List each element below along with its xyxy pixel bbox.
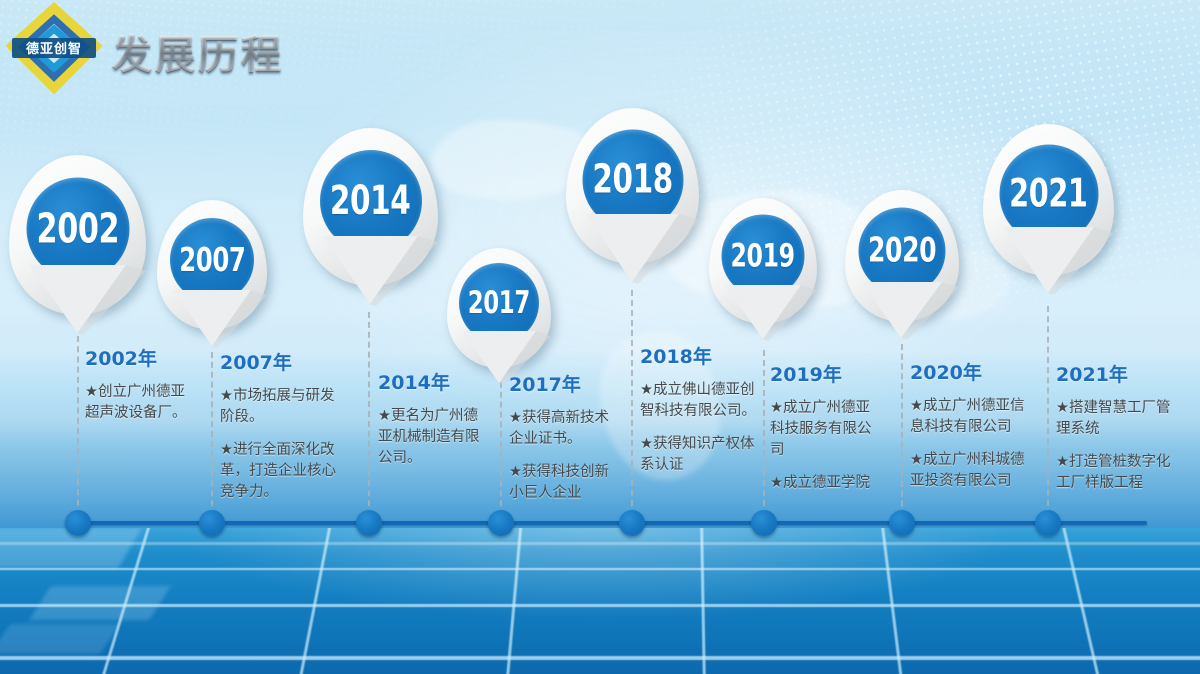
pin-2019-year: 2019	[731, 237, 795, 275]
milestone-year-label-2020: 2020年	[910, 362, 1034, 384]
milestone-item: ★更名为广州德亚机械制造有限公司。	[378, 406, 490, 469]
pin-2021[interactable]: 2021	[983, 124, 1114, 276]
connector-dash-2020	[901, 344, 903, 526]
pin-2017[interactable]: 2017	[447, 248, 551, 368]
pin-2002-tip	[9, 265, 146, 335]
milestone-text-2002: 2002年 ★创立广州德亚超声波设备厂。	[85, 348, 195, 424]
milestone-item: ★成立广州德亚科技服务有限公司	[770, 398, 882, 461]
milestone-item: ★获得科技创新小巨人企业	[509, 462, 621, 504]
connector-dash-2017	[500, 372, 502, 526]
pin-2019[interactable]: 2019	[709, 198, 817, 324]
pin-2014-tip	[303, 236, 438, 306]
timeline-dot-2018[interactable]	[619, 510, 645, 536]
milestone-item: ★获得知识产权体系认证	[640, 434, 756, 476]
milestone-item: ★打造管桩数字化工厂样版工程	[1056, 452, 1180, 494]
milestone-item: ★成立德亚学院	[770, 473, 882, 494]
milestone-item: ★成立广州德亚信息科技有限公司	[910, 396, 1034, 438]
pin-2018[interactable]: 2018	[566, 108, 699, 264]
milestone-year-label-2021: 2021年	[1056, 364, 1180, 386]
timeline-axis	[72, 521, 1147, 525]
milestone-text-2019: 2019年 ★成立广州德亚科技服务有限公司 ★成立德亚学院	[770, 364, 882, 494]
connector-dash-2007	[211, 352, 213, 526]
milestone-text-2018: 2018年 ★成立佛山德亚创智科技有限公司。 ★获得知识产权体系认证	[640, 346, 756, 476]
milestone-item: ★创立广州德亚超声波设备厂。	[85, 382, 195, 424]
milestone-year-label-2018: 2018年	[640, 346, 756, 368]
timeline-dot-2014[interactable]	[356, 510, 382, 536]
timeline-dot-2019[interactable]	[751, 510, 777, 536]
pin-2020-tip	[845, 282, 959, 340]
logo-text: 德亚创智	[26, 41, 82, 57]
milestone-year-label-2017: 2017年	[509, 374, 621, 396]
pin-2007-tip	[157, 290, 267, 348]
milestone-item: ★成立广州科城德亚投资有限公司	[910, 450, 1034, 492]
timeline-dot-2002[interactable]	[65, 510, 91, 536]
milestone-text-2021: 2021年 ★搭建智慧工厂管理系统 ★打造管桩数字化工厂样版工程	[1056, 364, 1180, 494]
pin-2002-year: 2002	[36, 205, 119, 253]
pin-2014[interactable]: 2014	[303, 128, 438, 286]
company-logo[interactable]: 德亚创智	[6, 2, 102, 94]
timeline-infographic: 德亚创智 发展历程 2002 2007	[0, 0, 1200, 674]
milestone-item: ★成立佛山德亚创智科技有限公司。	[640, 380, 756, 422]
milestone-year-label-2014: 2014年	[378, 372, 490, 394]
milestone-year-label-2019: 2019年	[770, 364, 882, 386]
connector-dash-2002	[77, 336, 79, 526]
pin-2021-year: 2021	[1009, 171, 1087, 216]
connector-dash-2018	[631, 290, 633, 526]
pin-2007-year: 2007	[179, 240, 245, 279]
pin-2007[interactable]: 2007	[157, 200, 267, 330]
pin-2014-year: 2014	[330, 178, 410, 224]
milestone-text-2017: 2017年 ★获得高新技术企业证书。 ★获得科技创新小巨人企业	[509, 374, 621, 504]
pin-2002[interactable]: 2002	[9, 155, 146, 315]
milestone-item: ★搭建智慧工厂管理系统	[1056, 398, 1180, 440]
connector-dash-2019	[763, 350, 765, 526]
pin-2021-tip	[983, 227, 1114, 295]
timeline-dot-2020[interactable]	[889, 510, 915, 536]
milestone-item: ★获得高新技术企业证书。	[509, 408, 621, 450]
background-perspective-floor	[0, 528, 1200, 674]
timeline-dot-2017[interactable]	[488, 510, 514, 536]
pin-2020[interactable]: 2020	[845, 190, 959, 322]
connector-dash-2014	[368, 312, 370, 526]
milestone-text-2007: 2007年 ★市场拓展与研发阶段。 ★进行全面深化改革，打造企业核心竞争力。	[220, 352, 348, 503]
pin-2020-year: 2020	[868, 231, 936, 271]
timeline-dot-2021[interactable]	[1035, 510, 1061, 536]
pin-2019-tip	[709, 285, 817, 341]
pin-2018-tip	[566, 214, 699, 284]
pin-2017-year: 2017	[468, 285, 530, 321]
connector-dash-2021	[1047, 306, 1049, 526]
milestone-text-2020: 2020年 ★成立广州德亚信息科技有限公司 ★成立广州科城德亚投资有限公司	[910, 362, 1034, 492]
milestone-item: ★市场拓展与研发阶段。	[220, 386, 348, 428]
page-title: 发展历程	[112, 22, 284, 80]
milestone-text-2014: 2014年 ★更名为广州德亚机械制造有限公司。	[378, 372, 490, 469]
timeline-dot-2007[interactable]	[199, 510, 225, 536]
pin-2018-year: 2018	[592, 157, 672, 203]
milestone-year-label-2002: 2002年	[85, 348, 195, 370]
milestone-year-label-2007: 2007年	[220, 352, 348, 374]
milestone-item: ★进行全面深化改革，打造企业核心竞争力。	[220, 440, 348, 503]
